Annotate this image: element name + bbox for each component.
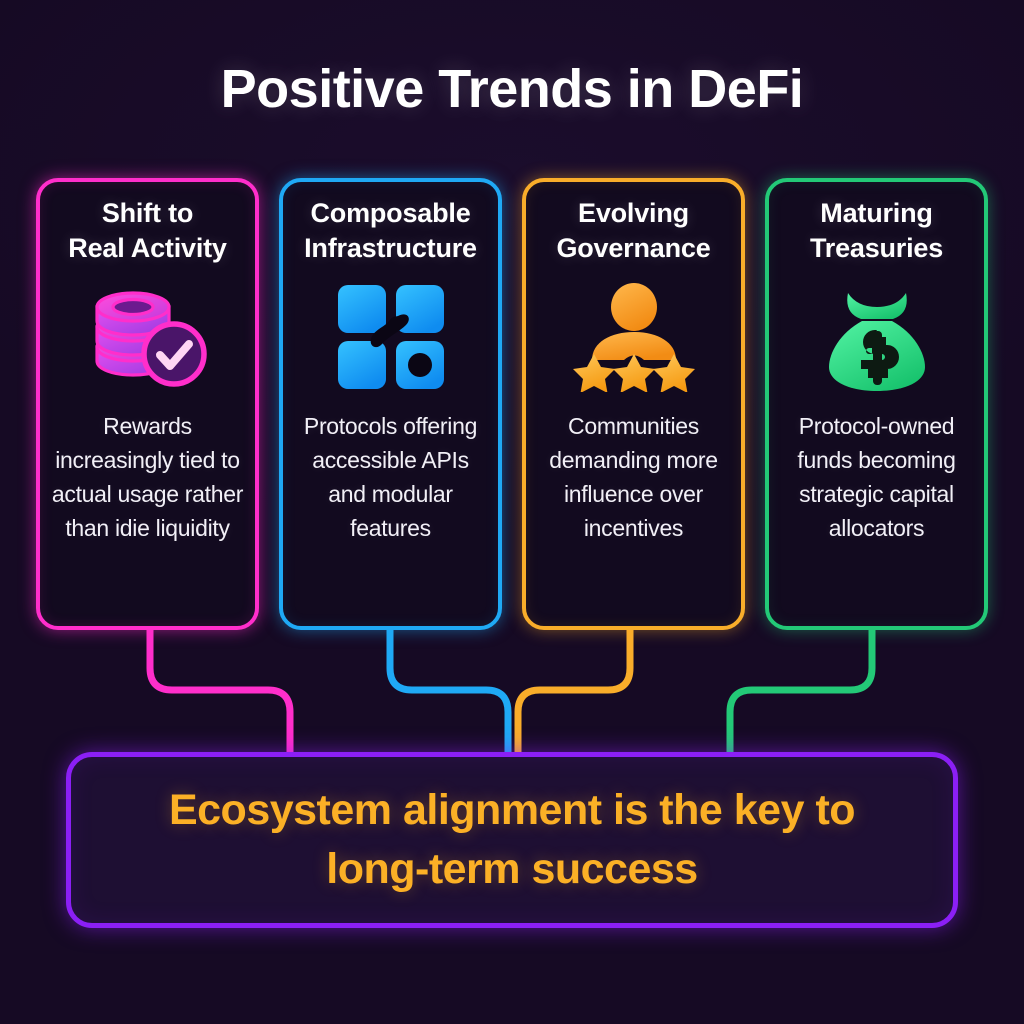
card-maturing-treasuries[interactable]: Maturing Treasuries Protocol- — [765, 178, 988, 630]
card-evolving-governance[interactable]: Evolving Governance — [522, 178, 745, 630]
banner-line-2: long-term success — [326, 845, 697, 893]
card-title-line-2: Governance — [556, 233, 710, 263]
connector-card-1 — [150, 630, 290, 752]
coin-stack-check-icon — [85, 281, 211, 393]
conclusion-banner[interactable]: Ecosystem alignment is the key to long-t… — [66, 752, 958, 928]
card-title-line-1: Composable — [310, 198, 470, 228]
card-body: Rewards increasingly tied to actual usag… — [48, 409, 247, 545]
connector-card-3 — [518, 630, 630, 752]
cards-row: Shift to Real Activity — [36, 178, 988, 630]
card-body: Communities demanding more influence ove… — [534, 409, 733, 545]
card-title-line-1: Maturing — [820, 198, 932, 228]
conclusion-banner-text: Ecosystem alignment is the key to long-t… — [169, 781, 855, 900]
money-bag-dollar-icon — [822, 281, 932, 393]
page-title: Positive Trends in DeFi — [0, 58, 1024, 120]
person-three-stars-icon — [572, 281, 696, 393]
card-shift-to-real-activity[interactable]: Shift to Real Activity — [36, 178, 259, 630]
card-title-line-2: Treasuries — [810, 233, 943, 263]
puzzle-blocks-icon — [335, 281, 447, 393]
connector-card-2 — [390, 630, 508, 752]
card-title-line-1: Shift to — [102, 198, 193, 228]
banner-line-1: Ecosystem alignment is the key to — [169, 786, 855, 834]
card-title: Maturing Treasuries — [810, 196, 943, 265]
card-title: Evolving Governance — [556, 196, 710, 265]
card-body: Protocol-owned funds becoming strategic … — [777, 409, 976, 545]
card-title-line-2: Real Activity — [68, 233, 226, 263]
connector-card-4 — [730, 630, 872, 752]
card-body: Protocols offering accessible APIs and m… — [291, 409, 490, 545]
card-composable-infrastructure[interactable]: Composable Infrastructure — [279, 178, 502, 630]
card-title: Composable Infrastructure — [304, 196, 477, 265]
card-title: Shift to Real Activity — [68, 196, 226, 265]
card-title-line-1: Evolving — [578, 198, 689, 228]
card-title-line-2: Infrastructure — [304, 233, 477, 263]
infographic-root: Positive Trends in DeFi Shift to Real Ac… — [0, 0, 1024, 1024]
